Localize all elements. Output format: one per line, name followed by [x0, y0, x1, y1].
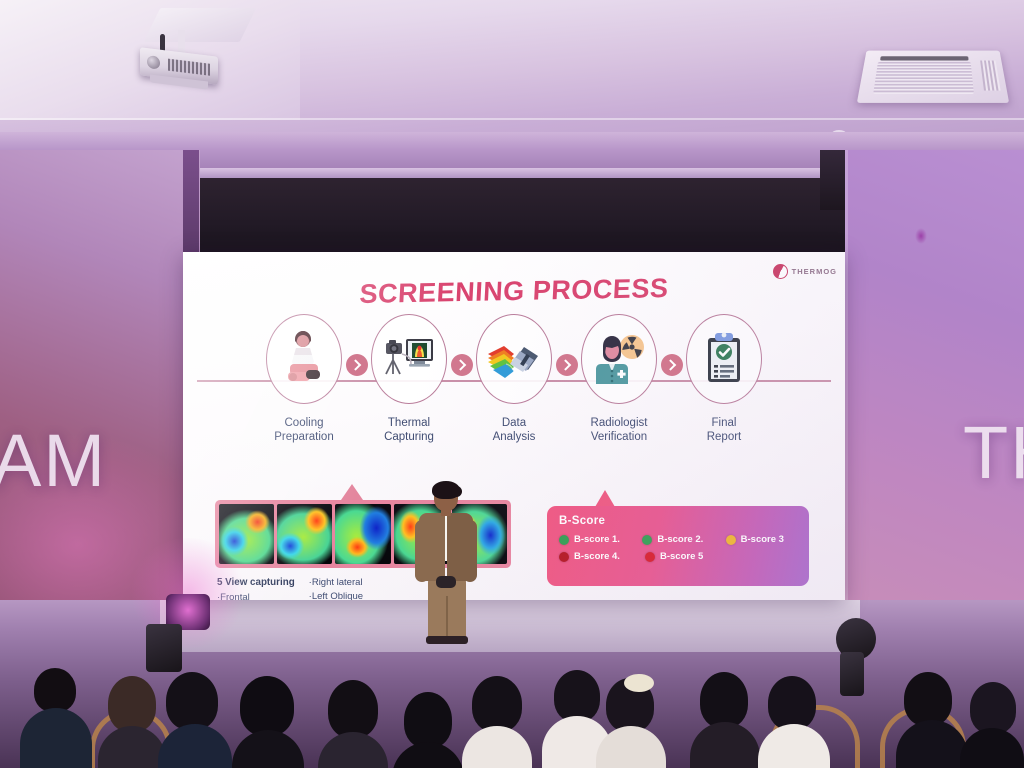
bscore-item: B-score 2.	[642, 534, 713, 545]
bscore-dot-icon	[642, 535, 652, 545]
audience-head	[404, 692, 452, 748]
ac-side-vent	[980, 61, 1000, 91]
audience	[0, 548, 1024, 768]
process-step-cooling-preparation: Cooling Preparation	[252, 314, 357, 445]
audience-head	[472, 676, 522, 732]
chevron-right-icon	[346, 354, 368, 376]
thermal-camera-icon	[381, 330, 437, 388]
wall-graphic-mark	[915, 228, 927, 244]
step-label: Thermal Capturing	[384, 416, 434, 445]
audience-head	[554, 670, 600, 722]
hair-scrunchie	[624, 674, 654, 692]
projector-lens-icon	[147, 55, 160, 70]
wall-text-right: TH	[963, 410, 1024, 495]
bscore-title: B-Score	[559, 515, 797, 527]
presenter-hair-bun	[451, 486, 462, 497]
ceiling-seam	[0, 118, 1024, 120]
audience-head	[108, 676, 156, 732]
audience-body	[392, 742, 464, 768]
process-step-final-report: Final Report	[672, 314, 777, 445]
radiologist-icon	[591, 330, 647, 388]
step-label: Final Report	[707, 416, 742, 445]
audience-body	[158, 724, 232, 768]
bscore-pointer	[595, 490, 615, 507]
audience-head	[904, 672, 952, 726]
step-bubble	[476, 314, 552, 404]
audience-body	[960, 728, 1024, 768]
ac-grill	[873, 62, 974, 94]
step-bubble	[371, 314, 447, 404]
wall-text-left: AM	[0, 418, 107, 503]
bscore-dot-icon	[726, 535, 736, 545]
bscore-row: B-score 1. B-score 2. B-score 3	[559, 534, 797, 545]
audience-body	[690, 722, 760, 768]
dark-valance-beam	[195, 178, 855, 253]
process-steps: Cooling Preparation	[183, 314, 845, 474]
bscore-label: B-score 2.	[657, 534, 703, 545]
audience-body	[462, 726, 532, 768]
bscore-dot-icon	[559, 535, 569, 545]
step-label: Cooling Preparation	[274, 416, 333, 445]
bscore-label: B-score 3	[741, 534, 784, 545]
step-label: Data Analysis	[493, 416, 536, 445]
bscore-label: B-score 1.	[574, 534, 620, 545]
handshake-icon	[486, 330, 542, 388]
clipboard-check-icon	[696, 330, 752, 388]
page-title: SCREENING PROCESS	[183, 270, 845, 314]
step-bubble	[686, 314, 762, 404]
screenshot-root: AM TH THERMOG SCREENING PROCESS	[0, 0, 1024, 768]
audience-body	[318, 732, 388, 768]
audience-head	[970, 682, 1016, 734]
ceiling-ac-cassette	[857, 51, 1009, 103]
thermal-strip-pointer	[341, 484, 363, 500]
process-step-thermal-capturing: Thermal Capturing	[357, 314, 462, 445]
step-bubble	[266, 314, 342, 404]
process-step-radiologist-verification: Radiologist Verification	[567, 314, 672, 445]
audience-head	[768, 676, 816, 730]
audience-head	[700, 672, 748, 728]
projector-vent	[168, 59, 210, 76]
ac-louver	[880, 56, 969, 60]
chevron-right-icon	[661, 354, 683, 376]
chevron-right-icon	[556, 354, 578, 376]
chevron-right-icon	[451, 354, 473, 376]
audience-head	[328, 680, 378, 738]
audience-body	[20, 708, 92, 768]
audience-body	[232, 730, 304, 768]
wall-gap-left	[183, 150, 199, 254]
step-bubble	[581, 314, 657, 404]
cooling-preparation-icon	[276, 330, 332, 388]
bscore-item: B-score 1.	[559, 534, 630, 545]
step-label: Radiologist Verification	[591, 416, 648, 445]
audience-head	[34, 668, 76, 712]
audience-head	[240, 676, 294, 736]
audience-head	[166, 672, 218, 730]
bscore-item: B-score 3	[726, 534, 797, 545]
process-step-data-analysis: Data Analysis	[462, 314, 567, 445]
